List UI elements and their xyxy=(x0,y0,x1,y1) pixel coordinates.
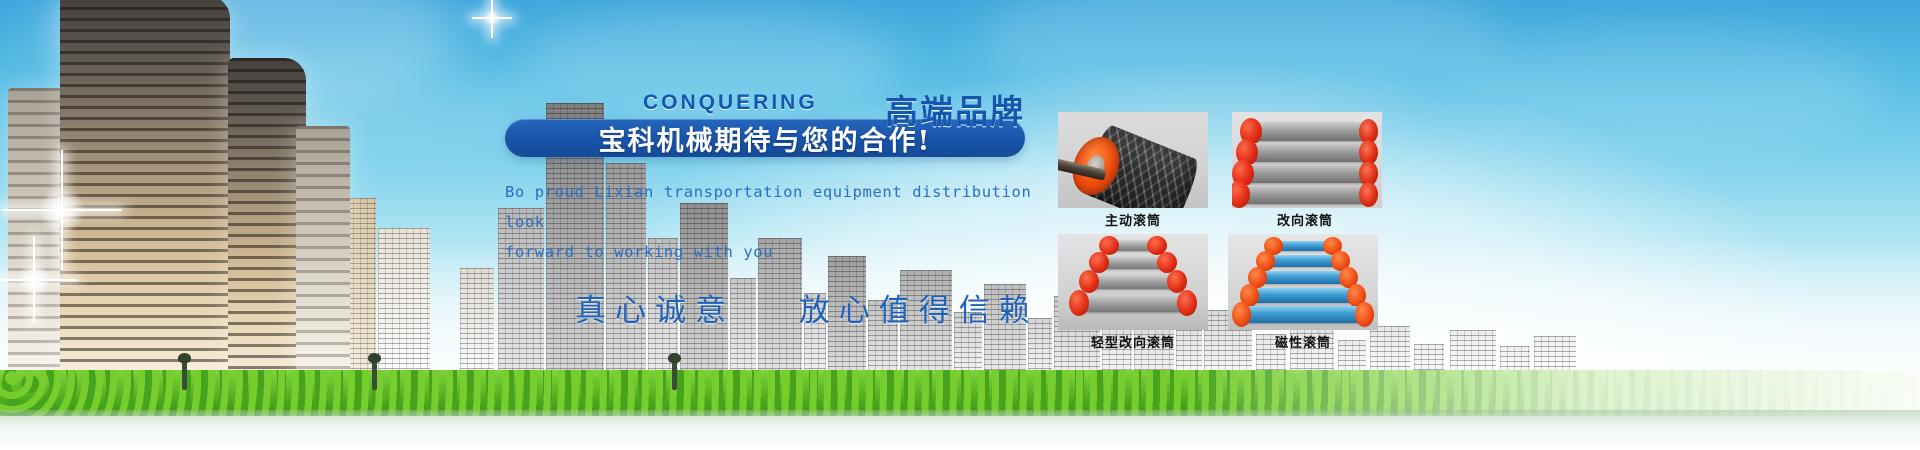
product-card-bend-pulley[interactable]: 改向滚筒 xyxy=(1228,112,1378,228)
foreground-tower-right xyxy=(228,58,306,388)
product-caption: 主动滚筒 xyxy=(1058,208,1208,228)
light-bend-pulley-thumb[interactable] xyxy=(1058,234,1208,330)
english-subtext: Bo proud Lixian transportation equipment… xyxy=(505,177,1045,267)
magnetic-pulley-thumb[interactable] xyxy=(1228,234,1378,330)
ground-reflection xyxy=(0,410,1920,450)
bend-pulley-thumb[interactable] xyxy=(1232,112,1382,208)
street-lamp-icon xyxy=(182,360,187,390)
english-line-2: forward to working with you xyxy=(505,237,1045,267)
product-caption: 改向滚筒 xyxy=(1232,208,1378,228)
product-card-magnetic-pulley[interactable]: 磁性滚筒 xyxy=(1228,234,1378,350)
foreground-tower-far xyxy=(296,126,350,388)
product-caption: 磁性滚筒 xyxy=(1228,330,1378,350)
pill-headline-text: 宝科机械期待与您的合作! xyxy=(599,119,932,158)
product-grid: 主动滚筒 改向滚筒 轻型改向滚筒 磁性滚筒 xyxy=(1058,112,1430,350)
headline-pill: 宝科机械期待与您的合作! 高端品牌 xyxy=(505,119,1025,157)
foreground-tower-main xyxy=(60,0,230,388)
english-line-1: Bo proud Lixian transportation equipment… xyxy=(505,177,1045,237)
street-lamp-icon xyxy=(372,360,377,390)
headline-block: CONQUERING 宝科机械期待与您的合作! 高端品牌 Bo proud Li… xyxy=(505,92,1065,330)
product-card-drive-pulley[interactable]: 主动滚筒 xyxy=(1058,112,1208,228)
slogan-text: 真心诚意 放心值得信赖 xyxy=(575,285,1065,330)
product-caption: 轻型改向滚筒 xyxy=(1058,330,1208,350)
street-lamp-icon xyxy=(672,360,677,390)
slogan-left: 真心诚意 xyxy=(575,293,735,329)
slogan-right: 放心值得信赖 xyxy=(799,293,1039,329)
drive-pulley-thumb[interactable] xyxy=(1058,112,1208,208)
promo-banner: CONQUERING 宝科机械期待与您的合作! 高端品牌 Bo proud Li… xyxy=(0,0,1920,450)
product-card-light-bend-pulley[interactable]: 轻型改向滚筒 xyxy=(1058,234,1208,350)
brand-tag-text: 高端品牌 xyxy=(885,85,1025,133)
